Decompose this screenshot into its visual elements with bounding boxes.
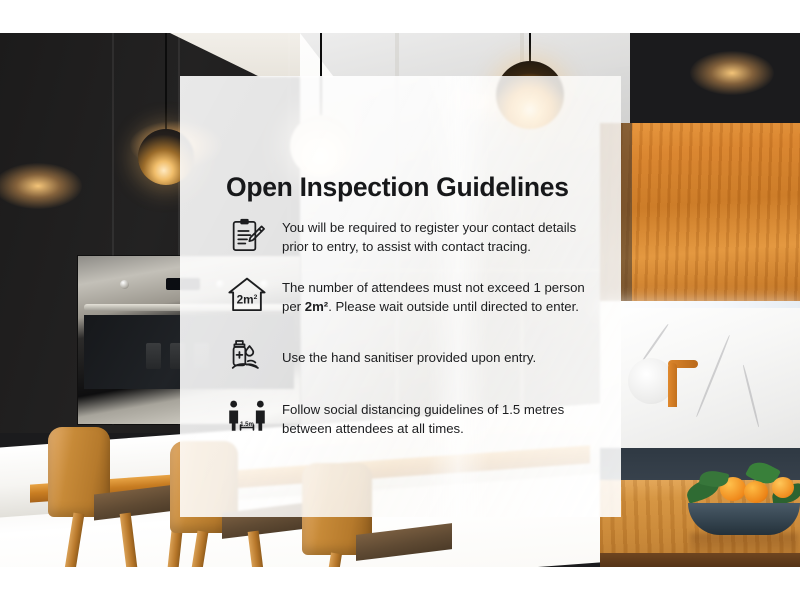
hand-sanitiser-icon <box>226 336 268 378</box>
letterbox-top <box>0 0 800 33</box>
marble-vein <box>696 335 731 417</box>
list-item: 1.5m Follow social distancing guidelines… <box>226 397 598 438</box>
list-item-text: Follow social distancing guidelines of 1… <box>282 397 598 438</box>
tap-body <box>668 363 677 407</box>
text-bold: 2m² <box>305 299 328 314</box>
clipboard-pencil-icon <box>226 216 268 256</box>
list-item: 2m2 The number of attendees must not exc… <box>226 275 598 316</box>
guidelines-list: You will be required to register your co… <box>226 216 598 457</box>
orange-fruit <box>744 481 768 503</box>
text-part: Use the hand sanitiser provided upon ent… <box>282 350 536 365</box>
svg-text:2m2: 2m2 <box>237 294 258 307</box>
orange-fruit <box>772 477 794 498</box>
text-part: . Please wait outside until directed to … <box>328 299 579 314</box>
bar-stool <box>46 417 176 567</box>
list-item: Use the hand sanitiser provided upon ent… <box>226 336 598 378</box>
social-distancing-icon: 1.5m <box>226 397 268 437</box>
marble-vein <box>742 365 759 428</box>
reflected-jar <box>146 343 161 369</box>
screenshot-root: Open Inspection Guidelines <box>0 0 800 600</box>
marble-vein <box>641 324 669 363</box>
oven-knob <box>120 280 129 289</box>
house-area-icon: 2m2 <box>226 275 268 315</box>
list-item: You will be required to register your co… <box>226 216 598 256</box>
list-item-text: The number of attendees must not exceed … <box>282 275 598 316</box>
guidelines-overlay-panel: Open Inspection Guidelines <box>180 76 621 517</box>
text-part: You will be required to register your co… <box>282 220 576 254</box>
letterbox-bottom <box>0 567 800 600</box>
list-item-text: You will be required to register your co… <box>282 216 598 256</box>
page-title: Open Inspection Guidelines <box>226 172 606 203</box>
under-cabinet-led <box>600 301 800 308</box>
text-part: Follow social distancing guidelines of 1… <box>282 402 564 436</box>
fruit-bowl <box>688 503 800 535</box>
bench-edge <box>600 553 800 567</box>
svg-text:1.5m: 1.5m <box>240 421 254 427</box>
downlight <box>690 51 774 95</box>
list-item-text: Use the hand sanitiser provided upon ent… <box>282 336 536 367</box>
